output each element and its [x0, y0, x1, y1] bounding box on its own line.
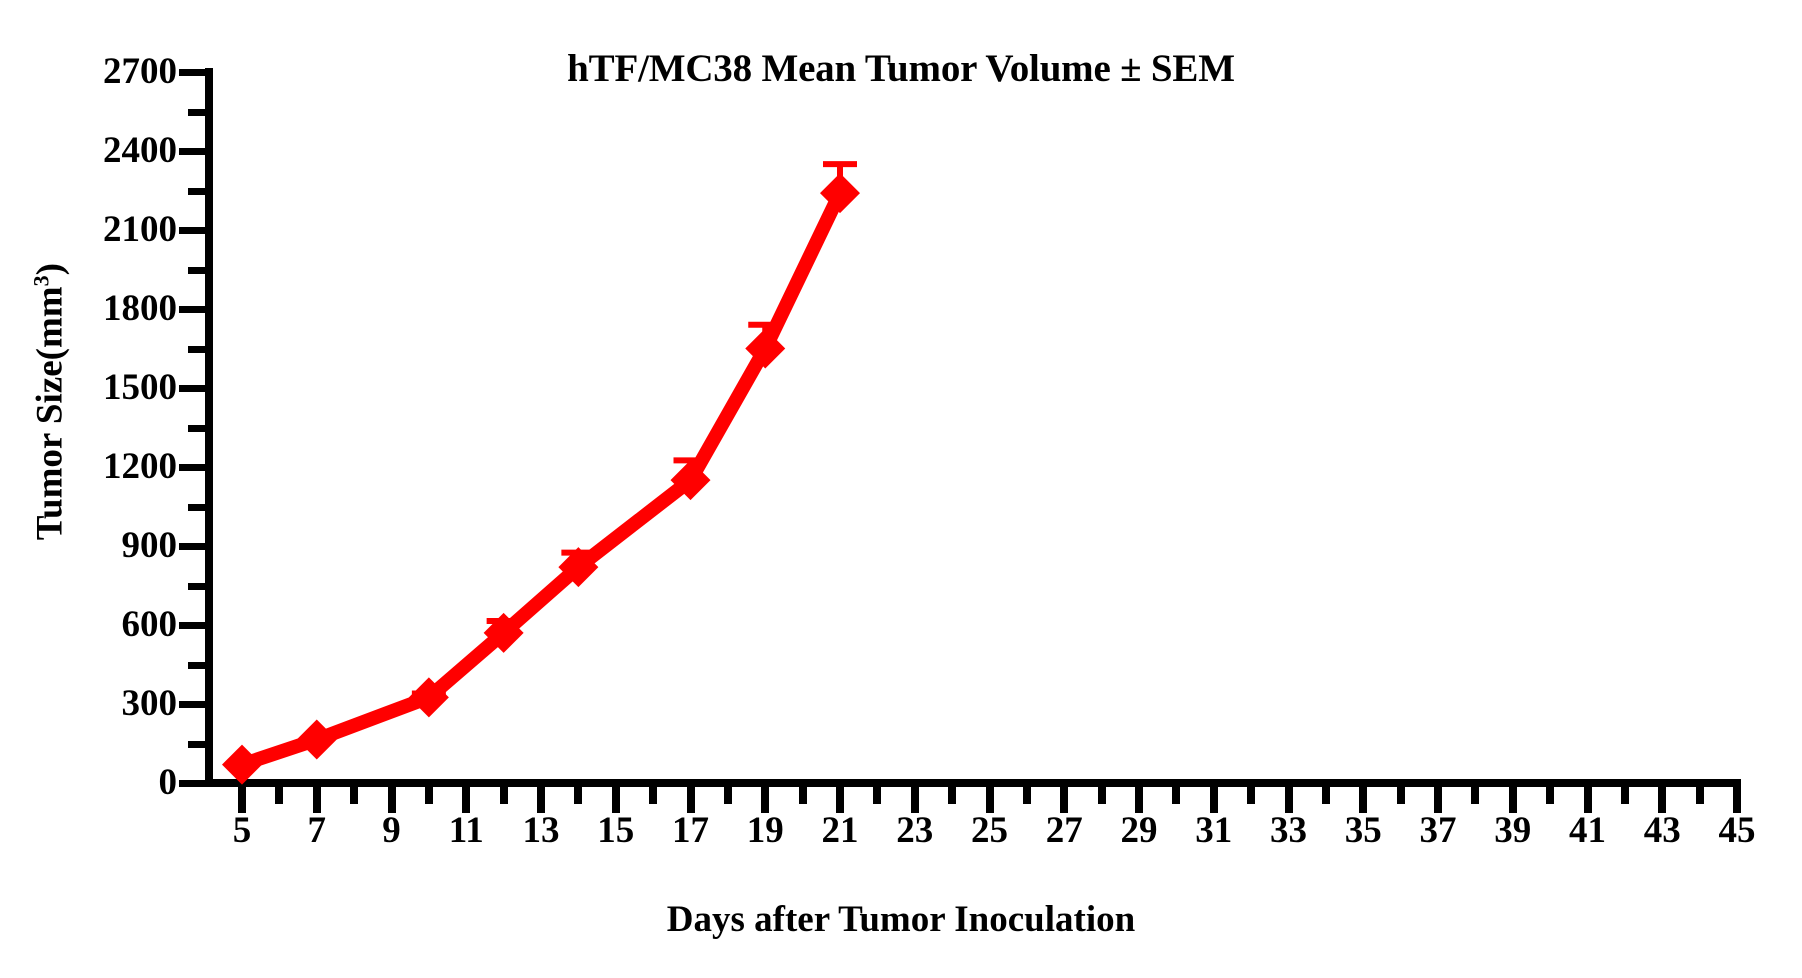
x-tick-label: 31: [1174, 812, 1254, 849]
data-point-marker: [297, 720, 337, 760]
y-tick-label: 600: [17, 606, 177, 643]
y-tick-label: 1200: [17, 448, 177, 485]
y-tick-major: [179, 464, 205, 471]
x-tick-minor: [948, 787, 956, 804]
y-tick-label: 900: [17, 527, 177, 564]
x-tick-minor: [1023, 787, 1031, 804]
y-tick-label: 2700: [17, 53, 177, 90]
y-tick-major: [179, 780, 205, 787]
x-tick-minor: [1172, 787, 1180, 804]
plot-area: 2700240021001800150012009006003000579111…: [0, 0, 1802, 978]
y-tick-major: [179, 69, 205, 76]
y-tick-minor: [188, 109, 205, 116]
y-tick-major: [179, 385, 205, 392]
y-tick-label: 1800: [17, 290, 177, 327]
error-bar: [412, 693, 446, 697]
chart-figure: hTF/MC38 Mean Tumor Volume ± SEM Tumor S…: [0, 0, 1802, 978]
x-tick-label: 39: [1473, 812, 1553, 849]
error-bar: [487, 621, 521, 633]
x-tick-label: 5: [202, 812, 282, 849]
y-tick-minor: [188, 346, 205, 353]
y-tick-major: [179, 701, 205, 708]
y-tick-minor: [188, 741, 205, 748]
y-tick-label: 2100: [17, 211, 177, 248]
x-tick-label: 25: [950, 812, 1030, 849]
data-point-marker: [484, 613, 524, 653]
y-tick-label: 1500: [17, 369, 177, 406]
data-point-marker: [745, 329, 785, 369]
y-tick-label: 2400: [17, 132, 177, 169]
x-tick-minor: [1471, 787, 1479, 804]
x-tick-minor: [1696, 787, 1704, 804]
y-tick-label: 0: [17, 764, 177, 801]
x-tick-label: 41: [1548, 812, 1628, 849]
x-tick-label: 45: [1697, 812, 1777, 849]
x-axis-line: [205, 779, 1741, 787]
y-axis-line: [205, 68, 213, 787]
x-tick-label: 19: [725, 812, 805, 849]
x-tick-minor: [1621, 787, 1629, 804]
x-tick-label: 37: [1398, 812, 1478, 849]
x-tick-label: 9: [352, 812, 432, 849]
data-point-marker: [558, 547, 598, 587]
error-bar: [561, 553, 595, 567]
x-tick-minor: [1397, 787, 1405, 804]
y-tick-major: [179, 543, 205, 550]
y-tick-minor: [188, 662, 205, 669]
x-tick-label: 21: [800, 812, 880, 849]
y-tick-minor: [188, 188, 205, 195]
x-tick-minor: [1247, 787, 1255, 804]
x-tick-minor: [799, 787, 807, 804]
x-tick-label: 13: [501, 812, 581, 849]
data-point-marker: [820, 173, 860, 213]
y-tick-minor: [188, 504, 205, 511]
x-tick-minor: [873, 787, 881, 804]
x-tick-minor: [500, 787, 508, 804]
y-tick-minor: [188, 425, 205, 432]
x-tick-minor: [1322, 787, 1330, 804]
y-tick-major: [179, 622, 205, 629]
x-tick-minor: [724, 787, 732, 804]
x-tick-minor: [574, 787, 582, 804]
x-tick-minor: [649, 787, 657, 804]
x-tick-minor: [275, 787, 283, 804]
x-tick-label: 29: [1099, 812, 1179, 849]
y-tick-major: [179, 148, 205, 155]
x-tick-minor: [1546, 787, 1554, 804]
x-tick-label: 23: [875, 812, 955, 849]
y-tick-major: [179, 306, 205, 313]
y-tick-minor: [188, 267, 205, 274]
x-tick-label: 35: [1323, 812, 1403, 849]
y-tick-major: [179, 227, 205, 234]
error-bar: [674, 460, 708, 480]
x-tick-label: 17: [651, 812, 731, 849]
x-tick-minor: [350, 787, 358, 804]
error-bar: [823, 164, 857, 193]
x-tick-label: 33: [1249, 812, 1329, 849]
x-tick-label: 43: [1622, 812, 1702, 849]
x-tick-label: 27: [1024, 812, 1104, 849]
data-point-marker: [409, 677, 449, 717]
series-line: [242, 193, 840, 764]
x-tick-minor: [425, 787, 433, 804]
y-tick-minor: [188, 583, 205, 590]
x-tick-label: 7: [277, 812, 357, 849]
x-tick-label: 15: [576, 812, 656, 849]
data-point-marker: [671, 460, 711, 500]
x-tick-minor: [1098, 787, 1106, 804]
x-tick-label: 11: [426, 812, 506, 849]
y-tick-label: 300: [17, 685, 177, 722]
error-bar: [748, 325, 782, 349]
